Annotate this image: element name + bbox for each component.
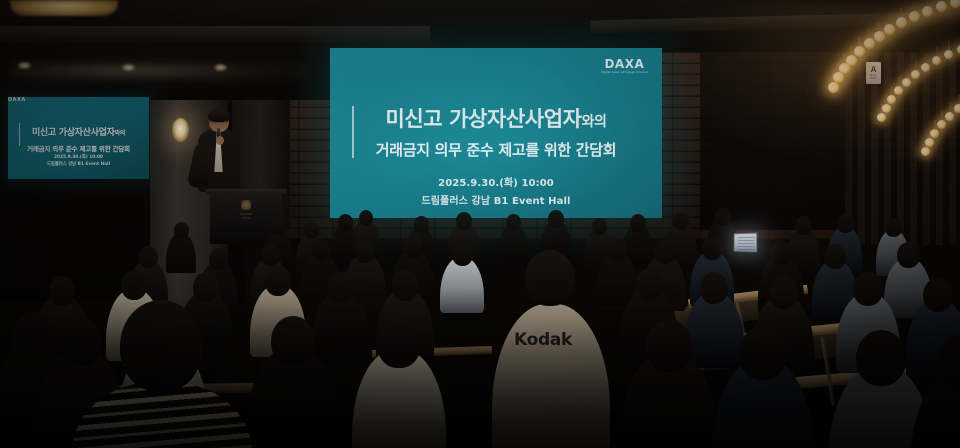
audience-member-head	[456, 212, 472, 230]
light-bulb	[874, 31, 885, 42]
audience-member-head	[403, 236, 423, 259]
daxa-logo-subtext: Digital Asset eXchange Alliance	[601, 71, 648, 75]
ceiling-lamp	[10, 0, 118, 16]
audience-member-head	[121, 270, 147, 300]
audience-member-head	[359, 210, 373, 226]
audience-member	[246, 316, 340, 448]
screen-event-venue: 드림플러스 강남 B1 Event Hall	[330, 192, 662, 207]
light-bulb	[930, 129, 939, 138]
audience-member-head	[646, 320, 692, 372]
wall-sconce-light	[172, 118, 189, 142]
ceiling-beam-left	[0, 26, 430, 42]
audience-member-head	[209, 248, 228, 270]
screen-title-line2: 거래금지 의무 준수 제고를 위한 간담회	[330, 139, 662, 160]
left-title-line1-main: 미신고 가상자산사업자	[32, 128, 115, 138]
left-daxa-logo: DAXA	[8, 97, 149, 103]
left-meta-block: 2025.9.30.(화) 10:00 드림플러스 강남 B1 Event Ha…	[8, 154, 149, 168]
left-event-date: 2025.9.30.(화) 10:00	[8, 154, 149, 161]
audience-member-head	[311, 238, 330, 260]
audience-member-head	[856, 330, 906, 386]
left-auxiliary-monitor: DAXA 미신고 가상자산사업자와의 거래금지 의무 준수 제고를 위한 간담회…	[8, 97, 149, 179]
left-title-line1: 미신고 가상자산사업자와의	[32, 125, 125, 138]
audience-member-head	[702, 236, 723, 260]
light-bulb	[846, 55, 857, 66]
downlight-3	[214, 64, 227, 71]
light-bulb	[909, 11, 920, 22]
screen-title-line1: 미신고 가상자산사업자와의	[385, 103, 606, 133]
audience-member-head	[261, 244, 280, 266]
light-bulb	[944, 50, 953, 59]
wall-slats	[845, 30, 960, 245]
light-bulb	[887, 95, 896, 104]
audience-member-head	[853, 272, 883, 306]
light-bulb	[864, 38, 875, 49]
audience-member-head	[739, 326, 787, 380]
audience-member-head	[837, 214, 854, 233]
light-bulb	[950, 0, 960, 8]
podium-logo-line2: PLUS	[242, 216, 251, 220]
podium-logo-mark	[241, 200, 251, 210]
kodak-tee-shirt	[492, 304, 610, 448]
exit-sign: A 비상구 EXIT	[866, 62, 881, 84]
left-title-line1-suffix: 와의	[115, 130, 125, 137]
daxa-logo-word: DAXA	[601, 57, 648, 71]
light-bulb	[921, 63, 930, 72]
light-bulb	[894, 86, 903, 95]
audience-member	[166, 222, 196, 279]
ceiling-glow	[10, 60, 310, 82]
light-bulb	[911, 70, 920, 79]
daxa-logo: DAXA Digital Asset eXchange Alliance	[601, 57, 648, 75]
left-daxa-logo-word: DAXA	[8, 97, 149, 103]
audience-member-head	[506, 214, 521, 231]
light-bulb	[954, 104, 960, 113]
audience-member-head	[607, 238, 627, 261]
audience-member-head	[885, 218, 902, 237]
light-bulb	[828, 82, 839, 93]
kodak-tee-logo-text: Kodak	[514, 330, 572, 350]
light-bulb	[921, 147, 930, 156]
main-presentation-screen: DAXA Digital Asset eXchange Alliance 미신고…	[330, 48, 662, 218]
downlight-1	[18, 62, 31, 69]
audience-member-head	[654, 240, 675, 264]
audience-member-kodak-tee: Kodak	[492, 268, 610, 448]
speaker-hand	[216, 136, 224, 145]
audience-member	[352, 318, 446, 448]
audience-member-head	[271, 316, 315, 366]
light-bulb	[937, 120, 946, 129]
audience-member-head	[139, 246, 158, 268]
speaker-hair	[208, 109, 230, 122]
audience-member-head	[636, 268, 663, 299]
audience-member-head	[392, 270, 419, 301]
audience-member-head	[673, 212, 689, 230]
light-bulb	[902, 78, 911, 87]
audience-member	[910, 334, 960, 448]
laptop-screen-content	[737, 237, 755, 250]
light-bulb	[925, 138, 934, 147]
audience-member	[712, 326, 814, 448]
audience-member-head	[377, 318, 421, 368]
light-bulb	[945, 112, 954, 121]
audience-member-head	[355, 240, 375, 263]
light-bulb	[936, 1, 947, 12]
audience-member-head	[452, 242, 473, 266]
audience-member-head	[328, 272, 355, 303]
audience-member-head	[548, 210, 564, 228]
downlight-2	[122, 64, 135, 71]
audience-member-head	[592, 218, 607, 235]
striped-shirt-head	[120, 300, 202, 392]
audience-member-head	[270, 218, 285, 235]
audience-member-head	[414, 216, 429, 233]
audience-member-head	[174, 222, 189, 239]
audience-member-head	[769, 276, 798, 309]
audience-member-head	[700, 272, 728, 304]
audience-member-head	[338, 214, 353, 231]
audience-member-head	[193, 272, 219, 302]
audience-laptop	[734, 233, 758, 253]
audience-member-striped-shirt	[72, 352, 252, 448]
audience-member-head	[304, 222, 319, 239]
audience-member-head	[265, 266, 291, 296]
left-title-block: 미신고 가상자산사업자와의 거래금지 의무 준수 제고를 위한 간담회	[8, 122, 149, 153]
exit-sign-sub-en: EXIT	[871, 77, 877, 80]
screen-title-line1-main: 미신고 가상자산사업자	[385, 107, 581, 131]
screen-event-date: 2025.9.30.(화) 10:00	[330, 174, 662, 189]
audience-member-head	[715, 208, 731, 226]
screen-meta-block: 2025.9.30.(화) 10:00 드림플러스 강남 B1 Event Ha…	[330, 174, 662, 207]
podium-logo: DREAM PLUS	[233, 199, 259, 221]
audience-member	[620, 320, 718, 448]
exit-sign-letter: A	[871, 66, 877, 74]
left-event-venue: 드림플러스 강남 B1 Event Hall	[8, 161, 149, 168]
light-bulb	[922, 6, 933, 17]
audience-member	[440, 242, 484, 322]
audience-member-head	[49, 276, 75, 306]
audience-member-head	[923, 278, 953, 312]
screen-title-line1-suffix: 와의	[582, 114, 607, 130]
wall-panel-dark	[700, 45, 850, 230]
audience-member-head	[824, 244, 846, 269]
audience-member-head	[770, 240, 792, 265]
audience-member-head	[630, 214, 646, 232]
screen-title-block: 미신고 가상자산사업자와의 거래금지 의무 준수 제고를 위한 간담회	[330, 103, 662, 160]
event-photo-scene: A 비상구 EXIT DAXA Digital Asset eXchange A…	[0, 0, 960, 448]
light-bulb	[882, 104, 891, 113]
audience-member	[498, 214, 528, 271]
audience-member-head	[795, 216, 812, 235]
left-title-line2: 거래금지 의무 준수 제고를 위한 간담회	[8, 143, 149, 153]
audience-member-head	[897, 242, 920, 268]
kodak-tee-head	[525, 250, 575, 306]
